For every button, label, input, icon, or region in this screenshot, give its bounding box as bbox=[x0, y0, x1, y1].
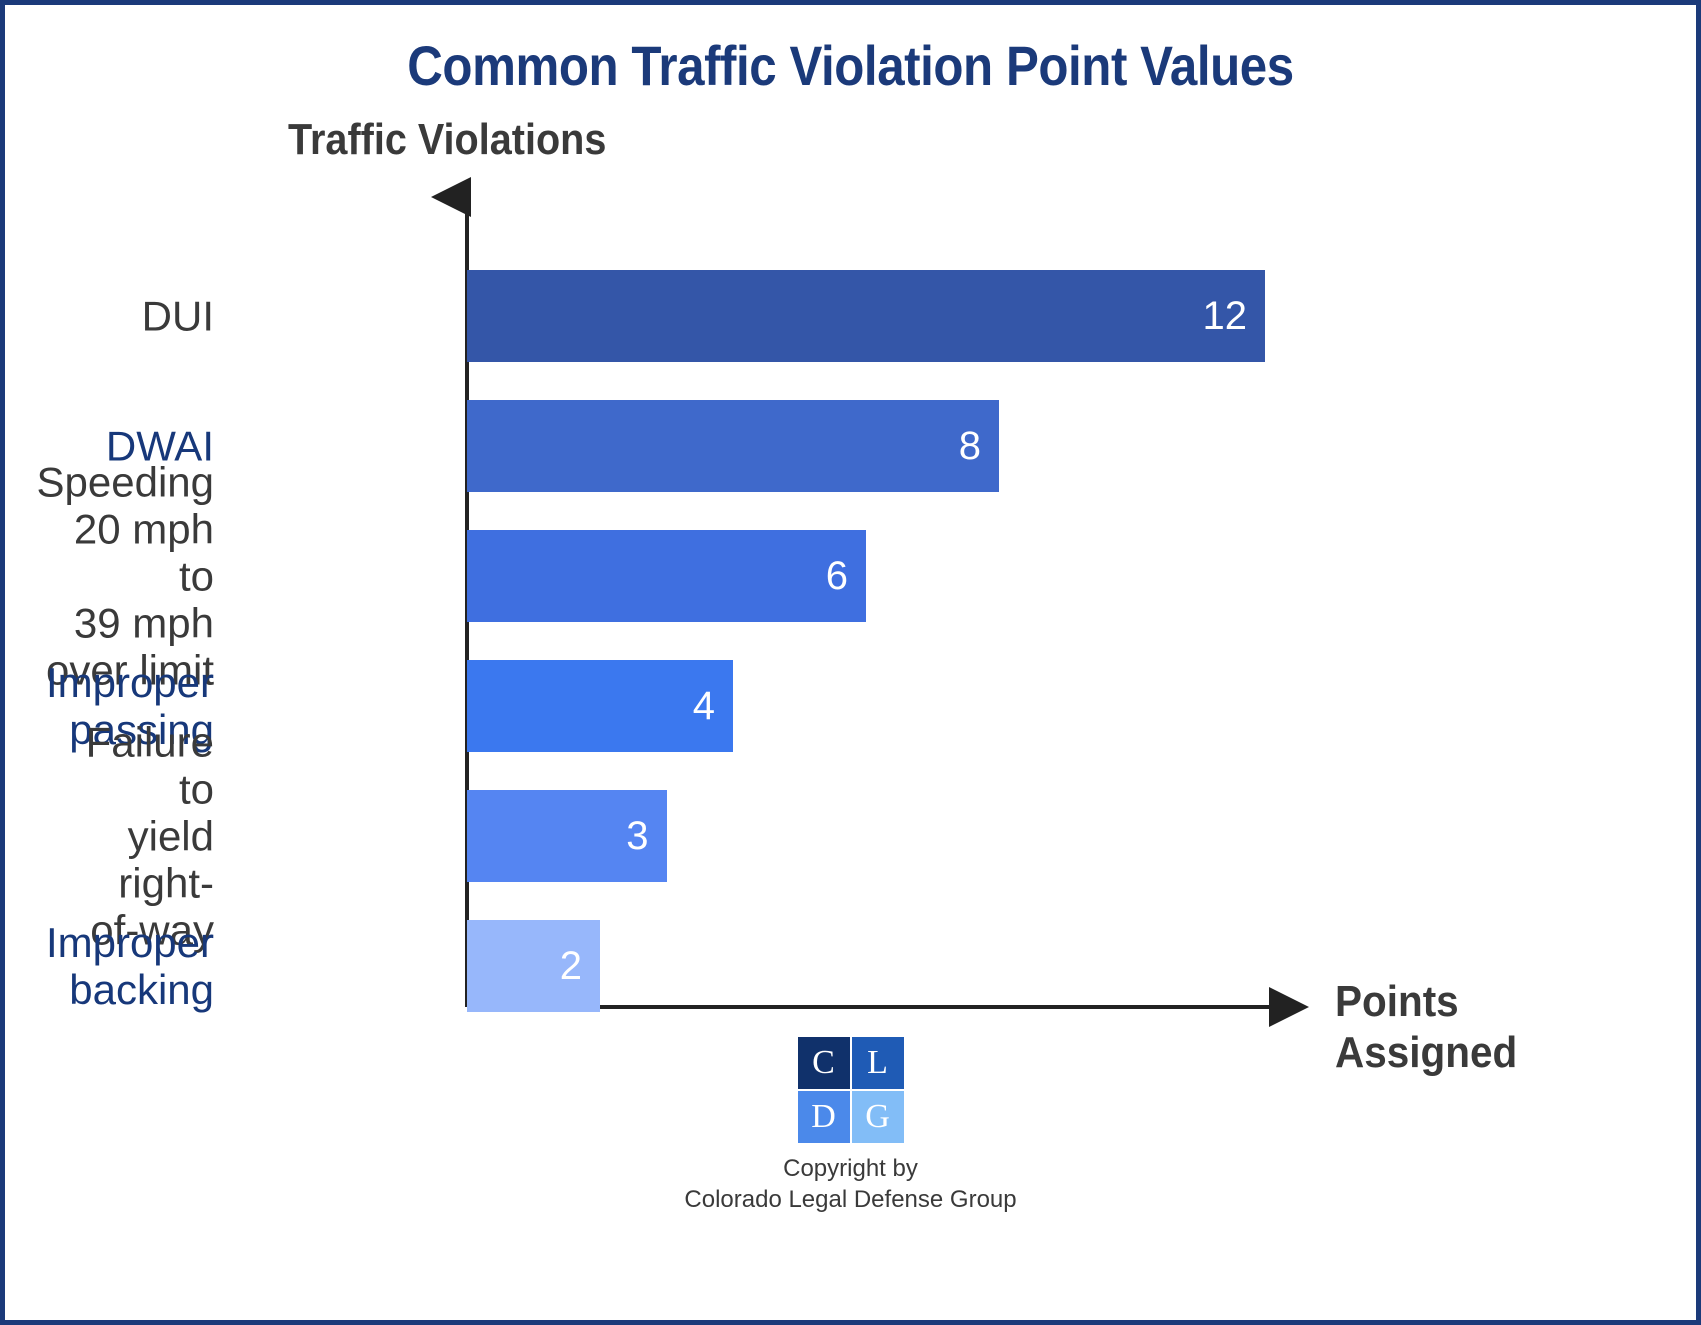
bar: 3 bbox=[467, 790, 667, 882]
bar-value-label: 3 bbox=[626, 816, 648, 856]
copyright-text: Copyright by Colorado Legal Defense Grou… bbox=[684, 1153, 1016, 1215]
category-label: Improper backing bbox=[46, 919, 214, 1013]
bar: 2 bbox=[467, 920, 600, 1012]
logo-cell-g: G bbox=[852, 1091, 904, 1143]
chart-page: Common Traffic Violation Point Values Tr… bbox=[0, 0, 1701, 1325]
bar: 6 bbox=[467, 530, 866, 622]
logo-cell-c: C bbox=[798, 1037, 850, 1089]
bar-row: DUI12 bbox=[467, 270, 1467, 362]
bar-row: Improper passing4 bbox=[467, 660, 1467, 752]
bar-row: DWAI8 bbox=[467, 400, 1467, 492]
bar-row: Improper backing2 bbox=[467, 920, 1467, 1012]
bar-value-label: 6 bbox=[826, 556, 848, 596]
bar-value-label: 8 bbox=[959, 426, 981, 466]
category-label: DUI bbox=[142, 292, 214, 339]
bar-value-label: 2 bbox=[560, 946, 582, 986]
footer-branding: CLDG Copyright by Colorado Legal Defense… bbox=[5, 1037, 1696, 1215]
bar: 4 bbox=[467, 660, 733, 752]
bar-row: Failure to yield right-of-way3 bbox=[467, 790, 1467, 882]
bar-series: DUI12DWAI8Speeding 20 mph to 39 mph over… bbox=[467, 270, 1467, 1012]
cldg-logo: CLDG bbox=[798, 1037, 904, 1143]
bar: 12 bbox=[467, 270, 1265, 362]
bar: 8 bbox=[467, 400, 999, 492]
logo-cell-l: L bbox=[852, 1037, 904, 1089]
logo-cell-d: D bbox=[798, 1091, 850, 1143]
bar-value-label: 12 bbox=[1203, 296, 1248, 336]
bar-value-label: 4 bbox=[693, 686, 715, 726]
bar-row: Speeding 20 mph to 39 mph over limit6 bbox=[467, 530, 1467, 622]
